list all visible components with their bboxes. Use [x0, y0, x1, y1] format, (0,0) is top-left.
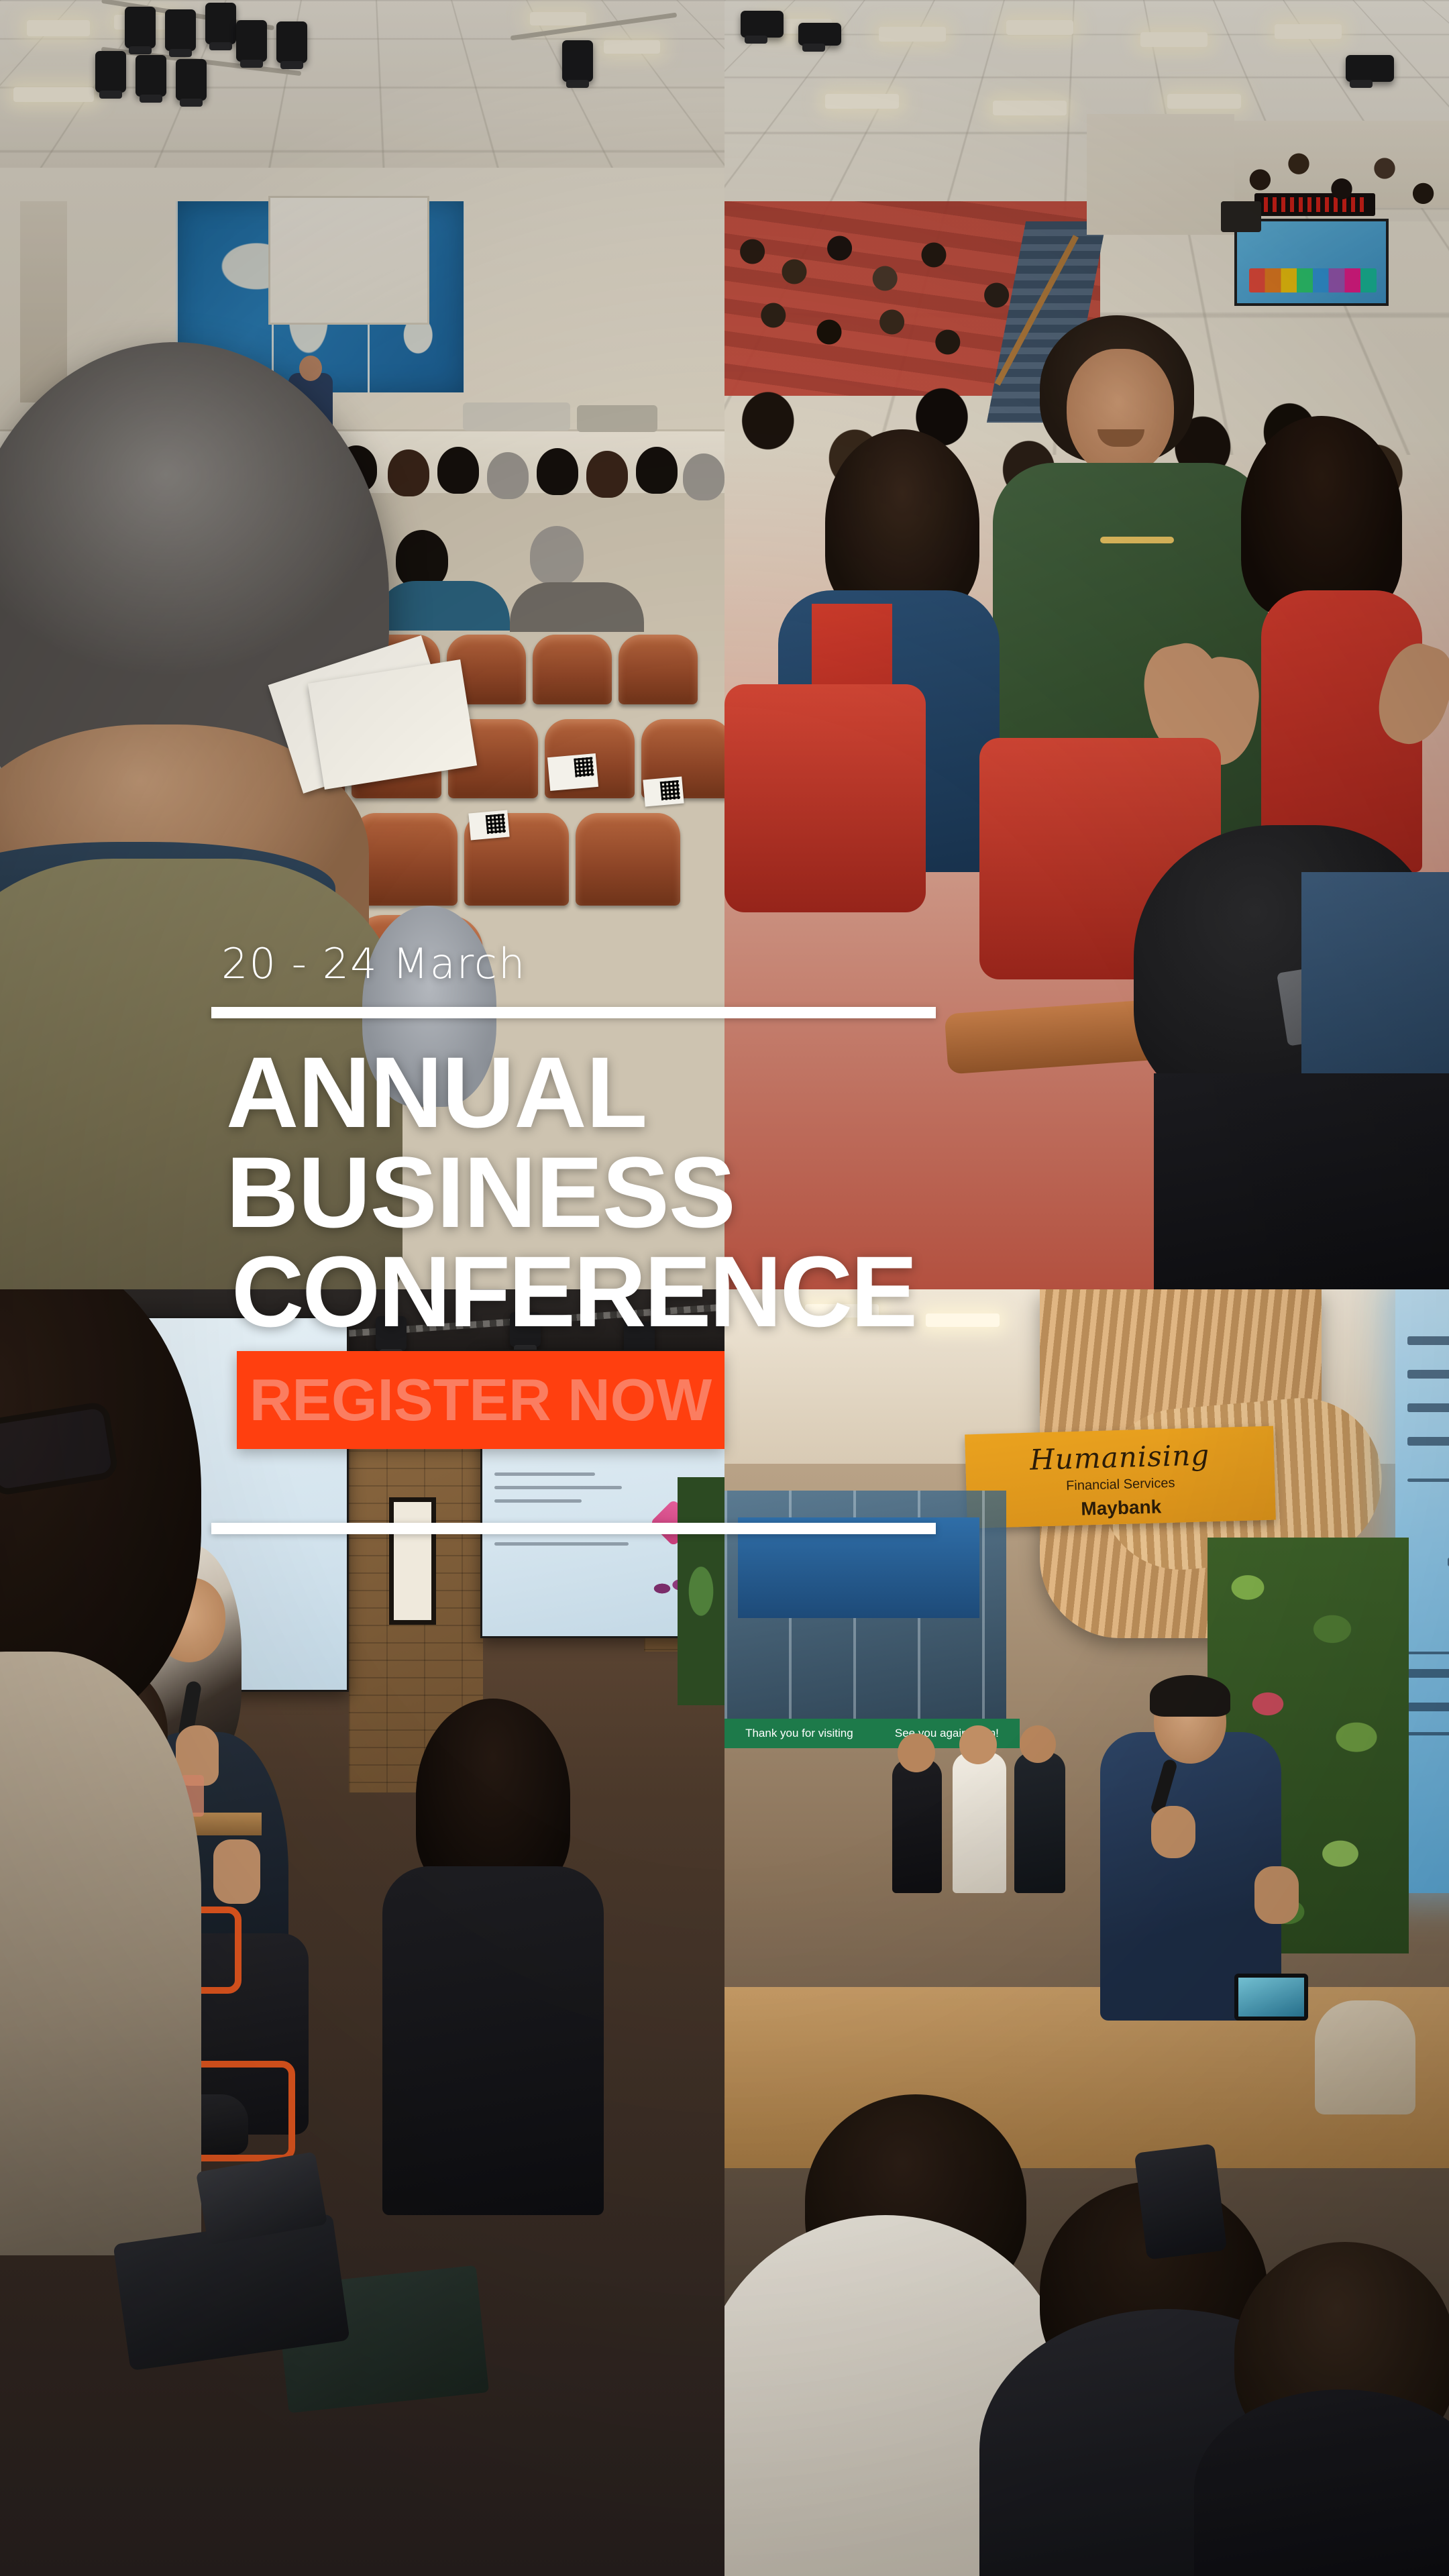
phone-device — [1134, 2143, 1228, 2259]
confidence-monitor — [1234, 1974, 1308, 2021]
stage-spotlight-icon — [798, 23, 841, 46]
stage-spotlight-icon — [95, 51, 126, 93]
ceiling-lamp — [1275, 24, 1342, 39]
projected-form-line — [1407, 1370, 1449, 1379]
ceiling-lamp — [1006, 20, 1073, 35]
ceiling-lamp — [27, 20, 90, 36]
register-now-label: REGISTER NOW — [250, 1366, 712, 1434]
stage-spotlight-icon — [1346, 55, 1394, 82]
seat-qr-card — [643, 777, 684, 807]
balcony-audience — [1234, 134, 1449, 248]
standing-person-head — [959, 1725, 997, 1764]
ceiling-lamp — [1140, 32, 1207, 47]
ceiling-lamp — [993, 101, 1067, 115]
title-line-annual: ANNUAL — [226, 1042, 943, 1142]
event-date-label: 20 - 24 March — [221, 939, 943, 988]
register-now-button[interactable]: REGISTER NOW — [237, 1351, 724, 1449]
av-equipment — [463, 402, 570, 431]
title-line-conference: CONFERENCE — [231, 1242, 943, 1342]
upper-tier-audience — [724, 221, 1073, 389]
event-promo-poster: Humanising Financial Services Maybank Th… — [0, 0, 1449, 2576]
standing-person-head — [898, 1733, 935, 1772]
stage-spotlight-icon — [741, 11, 784, 38]
projected-form-line — [1407, 1403, 1449, 1412]
featured-attendee-face — [1067, 349, 1174, 476]
stage-spotlight-icon — [125, 7, 156, 48]
lounge-chair — [1315, 2000, 1415, 2114]
projected-form-line — [1407, 1336, 1449, 1345]
attendee-hair — [416, 1699, 570, 1893]
standing-person — [892, 1759, 942, 1893]
presenter-hand — [213, 1839, 260, 1904]
speaker-hair — [1150, 1675, 1230, 1717]
projection-screen — [268, 196, 429, 325]
projected-form-line — [1407, 1437, 1449, 1446]
neighbour-attendee-hair — [1241, 416, 1402, 617]
seat-qr-card — [468, 810, 509, 841]
projected-form-subject — [1407, 1669, 1449, 1678]
maybank-sign-headline: Humanising — [965, 1437, 1275, 1479]
stage-spotlight-icon — [562, 40, 593, 82]
ceiling-lamp — [1167, 94, 1241, 109]
attendee-trousers — [1154, 1073, 1449, 1289]
av-equipment — [577, 405, 657, 432]
ceiling-lamp — [13, 87, 94, 102]
ceiling-lamp — [825, 94, 899, 109]
projected-form-subject — [1407, 1703, 1449, 1711]
stage-spotlight-icon — [276, 21, 307, 63]
divider-line-top — [211, 1007, 936, 1018]
divider-line-bottom — [211, 1523, 936, 1534]
wall-panel — [1087, 114, 1234, 235]
stage-speaker-head — [299, 356, 322, 381]
mall-band-left: Thank you for visiting — [745, 1727, 853, 1740]
ceiling-lamp — [604, 40, 660, 54]
projected-form-rule — [1407, 1652, 1449, 1654]
speaker-hand — [1151, 1806, 1195, 1858]
stage-spotlight-icon — [236, 20, 267, 62]
projected-form-rule — [1407, 1479, 1449, 1482]
maybank-sign-brand: Maybank — [967, 1493, 1276, 1523]
auditorium-seat — [724, 684, 926, 912]
wall-column — [20, 201, 67, 402]
neighbour-jeans — [1301, 872, 1449, 1073]
speaker-hand — [1254, 1866, 1299, 1924]
standing-person — [953, 1752, 1006, 1893]
stage-spotlight-icon — [176, 59, 207, 101]
necklace — [1100, 537, 1174, 543]
ceiling-lamp — [879, 27, 946, 42]
attendee-top — [382, 1866, 604, 2215]
stage-spotlight-icon — [205, 3, 236, 44]
projected-form-rule — [1407, 1732, 1449, 1735]
maybank-signage: Humanising Financial Services Maybank — [965, 1426, 1276, 1529]
title-line-business: BUSINESS — [226, 1142, 943, 1242]
ceiling-lamp — [530, 12, 586, 25]
promo-text-overlay: 20 - 24 March ANNUAL BUSINESS CONFERENCE… — [211, 939, 943, 1534]
stage-spotlight-icon — [165, 9, 196, 51]
page-title: ANNUAL BUSINESS CONFERENCE — [211, 1042, 943, 1342]
standing-person-head — [1020, 1725, 1056, 1763]
neighbour-attendee-hair — [825, 429, 979, 617]
standing-person — [1014, 1752, 1065, 1893]
seat-qr-card — [547, 753, 598, 791]
stage-spotlight-icon — [136, 55, 166, 97]
